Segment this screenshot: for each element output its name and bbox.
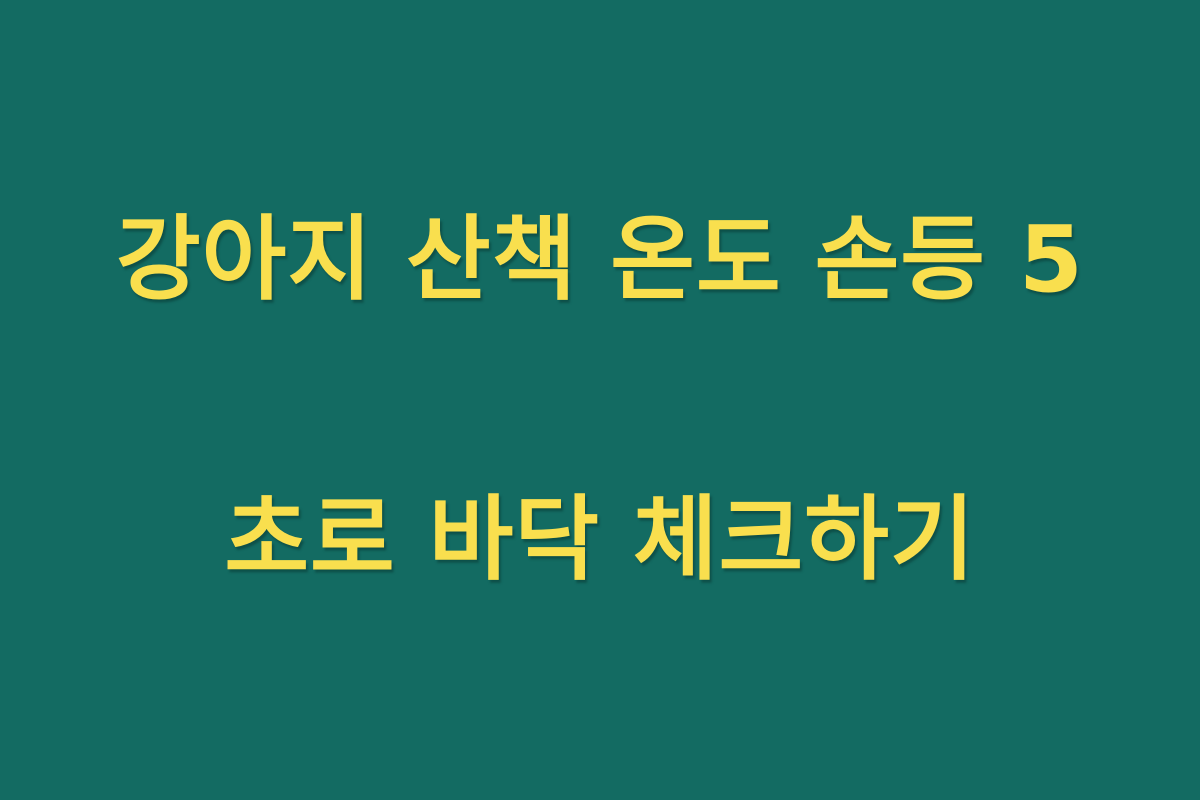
headline-line-1: 강아지 산책 온도 손등 5 bbox=[60, 190, 1140, 330]
headline-line-2: 초로 바닥 체크하기 bbox=[60, 470, 1140, 610]
page-title: 강아지 산책 온도 손등 5 초로 바닥 체크하기 bbox=[60, 50, 1140, 750]
banner-background: 강아지 산책 온도 손등 5 초로 바닥 체크하기 bbox=[0, 0, 1200, 800]
